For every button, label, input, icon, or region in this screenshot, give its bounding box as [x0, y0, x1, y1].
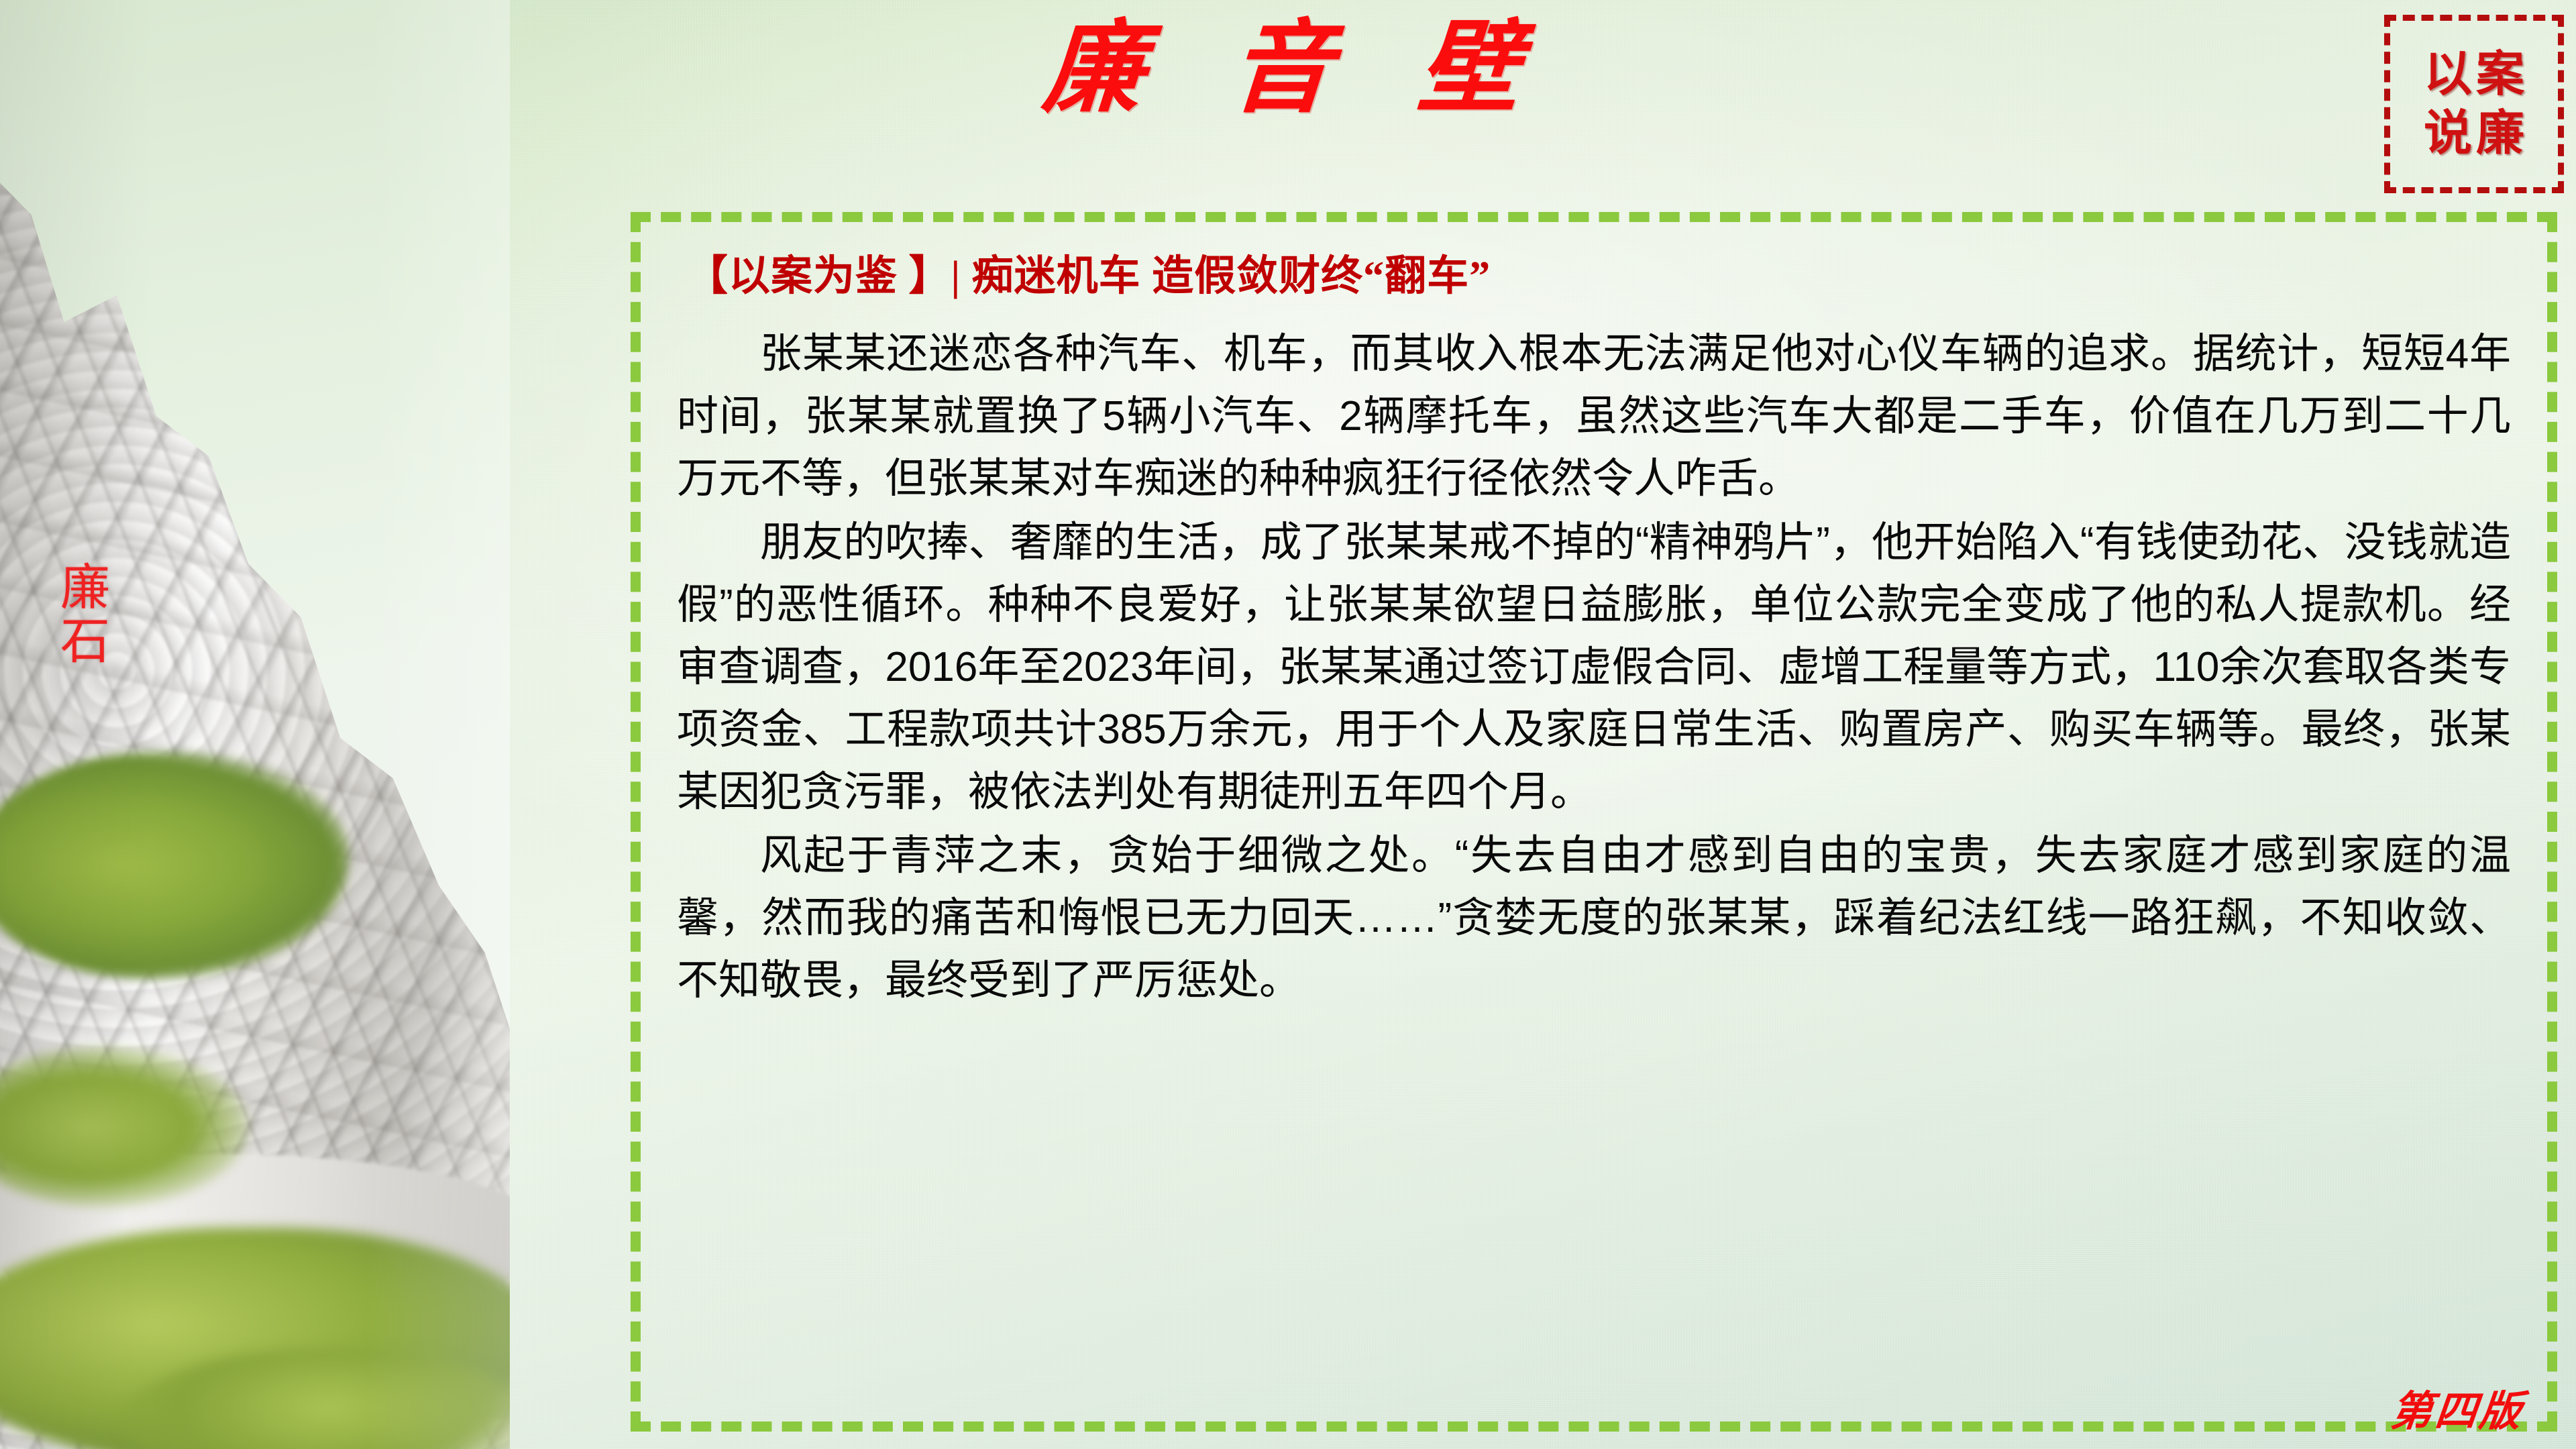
article-paragraph: 朋友的吹捧、奢靡的生活，成了张某某戒不掉的“精神鸦片”，他开始陷入“有钱使劲花、…: [677, 511, 2511, 823]
page-number-label: 第四版: [2389, 1391, 2526, 1433]
page-title: 廉 音 壁: [916, 19, 1647, 119]
article-body: 张某某还迷恋各种汽车、机车，而其收入根本无法满足他对心仪车辆的追求。据统计，短短…: [677, 323, 2511, 1012]
corner-badge: 以案 说廉: [2384, 15, 2564, 193]
article-panel: 【以案为鉴 】| 痴迷机车 造假敛财终“翻车” 张某某还迷恋各种汽车、机车，而其…: [631, 212, 2557, 1432]
article-headline: 【以案为鉴 】| 痴迷机车 造假敛财终“翻车”: [686, 252, 2511, 303]
rock-inscription-text: 廉 石: [42, 562, 129, 669]
cliff-photo: 廉 石: [0, 0, 510, 1449]
corner-badge-line-2: 说廉: [2420, 109, 2528, 158]
photo-shading: [0, 0, 510, 1449]
article-paragraph: 风起于青萍之末，贪始于细微之处。“失去自由才感到自由的宝贵，失去家庭才感到家庭的…: [677, 824, 2511, 1012]
article-paragraph: 张某某还迷恋各种汽车、机车，而其收入根本无法满足他对心仪车辆的追求。据统计，短短…: [677, 323, 2511, 510]
poster-page: 廉 石 廉 音 壁 以案 说廉 【以案为鉴 】| 痴迷机车 造假敛财终“翻车” …: [0, 0, 2576, 1449]
corner-badge-line-1: 以案: [2420, 50, 2528, 99]
